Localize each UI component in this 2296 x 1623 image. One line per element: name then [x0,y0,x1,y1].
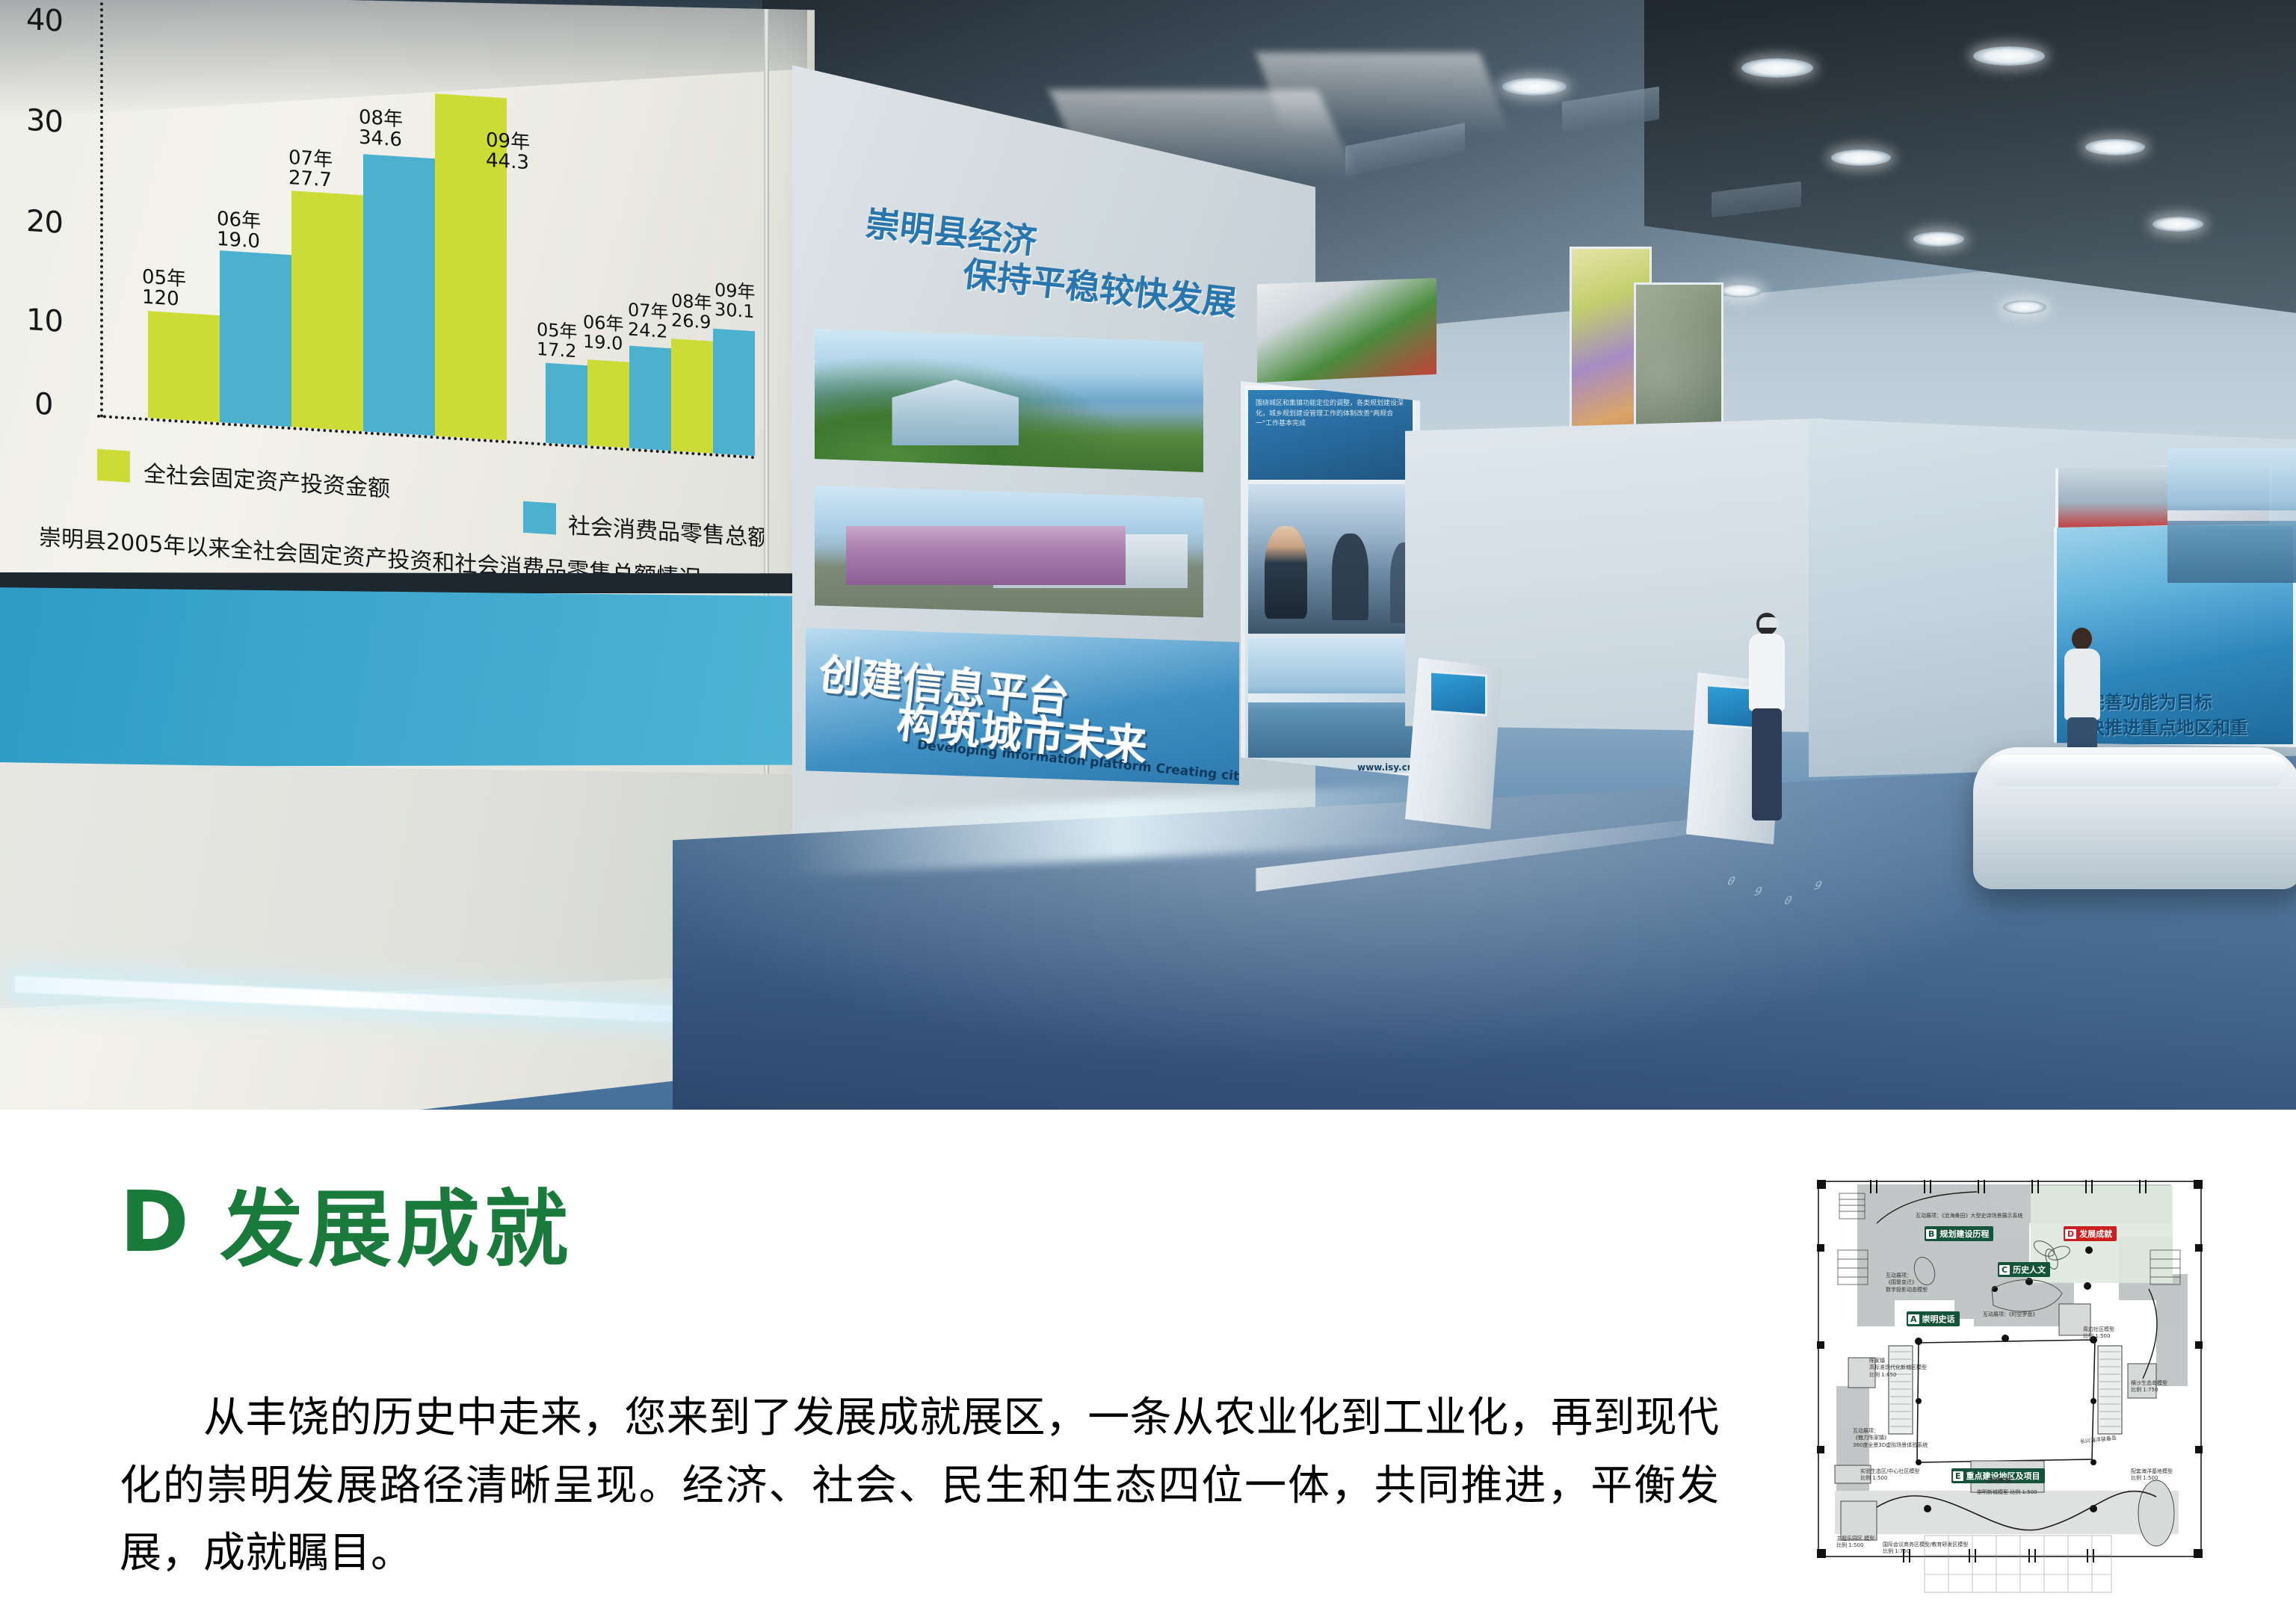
plan-note-11: 配套海洋基地模型 比例 1:500 [2131,1468,2173,1483]
bar-g2-09 [713,329,755,457]
label-g2-09: 09年30.1 [715,262,756,322]
bar-g2-05 [546,363,587,446]
kiosk-screen-left[interactable] [1429,670,1487,716]
ceiling-light [2085,139,2145,155]
reception-desk-top [1988,755,2287,786]
slide-body: D 发展成就 从丰饶的历史中走来，您来到了发展成就展区，一条从农业化到工业化，再… [0,1110,2296,1623]
y-tick-0: 0 [34,387,52,423]
plan-zone-B[interactable]: B 规划建设历程 [1925,1226,1993,1241]
plan-zone-C-label: 历史人文 [2013,1264,2046,1276]
pillar-url: www.isy.cn [1357,762,1413,773]
plan-note-2: 互动展项：《时空罗盘》 [1983,1311,2038,1318]
plan-note-8: 实验生态区/中心社区模型 比例 1:500 [1860,1468,1919,1483]
ceiling-light [1502,78,1567,96]
label-g1-09: 09年44.3 [486,110,530,174]
plan-note-12: 主题乐园区 模型 比例 1:500 [1836,1536,1874,1550]
wall-blue-band [0,587,811,767]
plan-zone-C-letter: C [1999,1265,2010,1275]
section-title: D 发展成就 [120,1162,573,1283]
section-title-text: 发展成就 [220,1162,573,1283]
plan-note-0: 互动展项：《沧海桑田》大型史诗场景展示系统 [1916,1213,2023,1219]
photo-panel-town [815,329,1203,478]
section-paragraph: 从丰饶的历史中走来，您来到了发展成就展区，一条从农业化到工业化，再到现代化的崇明… [120,1385,1719,1588]
label-g1-05: 05年120 [142,247,186,311]
photo-panel-banner: 创建信息平台 构筑城市未来 Developing information pla… [806,628,1239,788]
ceiling-light [2003,300,2046,314]
photo-panel-factory [815,486,1203,620]
pillar-paragraph: 围绕城区和集镇功能定位的调整，各类规划建设深化，城乡规划建设管理工作的体制改善"… [1256,399,1405,430]
plan-zone-D-label: 发展成就 [2079,1228,2112,1240]
plan-note-10: 崇明新城模型 比例 1:500 [1977,1489,2037,1496]
pillar-photo-people [1248,484,1413,634]
bar-g2-06 [587,359,629,448]
plan-zone-B-label: 规划建设历程 [1939,1228,1989,1240]
plan-zone-D[interactable]: D 发展成就 [2064,1226,2117,1241]
floor-plan: B 规划建设历程 D 发展成就 C 历史人文 A 崇明史话 E 重点建设地区及项… [1805,1140,2283,1603]
ceiling-light [1831,149,1891,166]
photo-panel-cycling [1257,278,1436,383]
label-g2-06: 06年19.0 [583,294,624,354]
bar-g2-07 [629,346,671,451]
label-g1-07: 07年27.7 [288,127,333,191]
plan-zone-B-letter: B [1926,1229,1937,1239]
plan-note-13: 国际会议商务区模型/教育研发区模型 比例 1:750 [1883,1542,1968,1556]
plan-zone-A-letter: A [1908,1314,1919,1324]
plan-zone-E-letter: E [1953,1471,1963,1481]
y-tick-20: 20 [26,204,63,241]
light-beam [1256,52,1510,135]
label-g1-06: 06年19.0 [217,188,261,253]
legend-label-retail: 社会消费品零售总额 [568,507,770,553]
plan-note-3: 周边社区模型 比例 1:500 [2083,1326,2114,1341]
bar-g1-08 [363,154,435,436]
exhibition-hall-photo: 40 30 20 10 0 05年120 [0,0,2296,1110]
y-tick-30: 30 [26,103,63,140]
ceiling-light [1719,284,1762,297]
chart-y-axis [100,2,103,418]
plan-zone-A[interactable]: A 崇明史话 [1907,1311,1960,1326]
poster-right-construction [2167,448,2296,583]
ceiling-light [1741,58,1813,78]
label-g2-05: 05年17.2 [537,302,578,362]
plan-note-7: 横沙生态岛模型 比例 1:750 [2131,1380,2167,1394]
visitor-left [1746,613,1788,822]
ceiling-light [2152,217,2203,232]
plan-zone-A-label: 崇明史话 [1922,1313,1955,1325]
label-g2-07: 07年24.2 [628,282,669,342]
pillar-text-block: 围绕城区和集镇功能定位的调整，各类规划建设深化，城乡规划建设管理工作的体制改善"… [1248,390,1413,480]
y-tick-40: 40 [26,2,63,39]
plan-note-9: 崇明新城 [1987,1477,2011,1486]
y-tick-10: 10 [26,303,63,339]
legend-label-investment: 全社会固定资产投资金额 [143,455,390,504]
section-letter: D [120,1174,189,1271]
label-g2-08: 08年26.9 [671,273,712,333]
ceiling-light [1973,46,2045,66]
bar-g2-08 [671,338,713,454]
plan-note-1: 互动展项： 《围垦变迁》 数字投影动态模型 [1886,1273,1928,1293]
plan-zone-D-letter: D [2065,1229,2076,1239]
legend-swatch-retail [523,501,556,535]
bar-chart: 40 30 20 10 0 05年120 [0,0,792,640]
ceiling-light [1913,232,1964,247]
bar-g1-07 [291,191,363,431]
slide-page: 40 30 20 10 0 05年120 [0,0,2296,1623]
plan-note-5: 互动展项： 《魅力陈家镇》 360度全景3D虚拟场景体验系统 [1853,1428,1928,1449]
pillar-lightbox: 围绕城区和集镇功能定位的调整，各类规划建设深化，城乡规划建设管理工作的体制改善"… [1241,381,1420,777]
bar-g1-05 [148,311,220,422]
plan-note-4: 陈家镇 高标准现代化新城区模型 比例 1:650 [1869,1358,1927,1379]
label-g1-08: 08年34.6 [359,87,403,151]
pillar-photo-bridge [1248,638,1413,758]
bar-g1-06 [220,250,291,427]
legend-swatch-investment [97,449,130,483]
plan-zone-C[interactable]: C 历史人文 [1998,1262,2050,1277]
